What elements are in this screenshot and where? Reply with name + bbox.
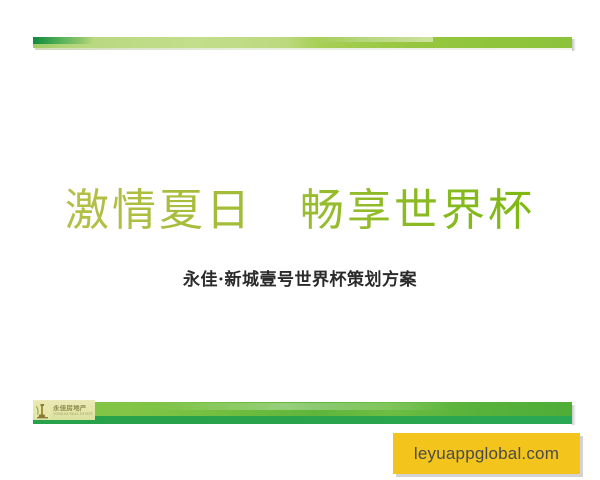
logo-name-cn: 永佳房地产 xyxy=(53,405,93,412)
bottom-decorative-bar xyxy=(33,402,572,424)
presentation-slide: 激情夏日 畅享世界杯 永佳·新城壹号世界杯策划方案 永佳房地产 YONGJIA … xyxy=(0,0,600,480)
bottom-bar-edge-shadow xyxy=(572,405,576,425)
banner-highlight-wedge xyxy=(313,37,433,42)
logo-name-en: YONGJIA REAL ESTATE xyxy=(53,412,93,416)
banner-underline xyxy=(35,48,573,50)
banner-edge-shadow xyxy=(572,39,576,51)
bottom-bar-dark-stripe xyxy=(33,416,572,424)
slide-title: 激情夏日 畅享世界杯 xyxy=(0,182,600,240)
company-logo-badge: 永佳房地产 YONGJIA REAL ESTATE xyxy=(33,400,95,420)
banner-dark-wedge xyxy=(33,37,93,44)
logo-wordmark: 永佳房地产 YONGJIA REAL ESTATE xyxy=(53,405,93,416)
watermark-text: leyuappglobal.com xyxy=(414,444,559,464)
slide-subtitle: 永佳·新城壹号世界杯策划方案 xyxy=(0,268,600,292)
bottom-bar-sheen xyxy=(153,403,453,410)
building-logo-icon xyxy=(35,402,50,419)
watermark-badge: leyuappglobal.com xyxy=(393,433,580,474)
top-decorative-banner xyxy=(33,37,572,50)
banner-gradient-band xyxy=(33,37,572,48)
